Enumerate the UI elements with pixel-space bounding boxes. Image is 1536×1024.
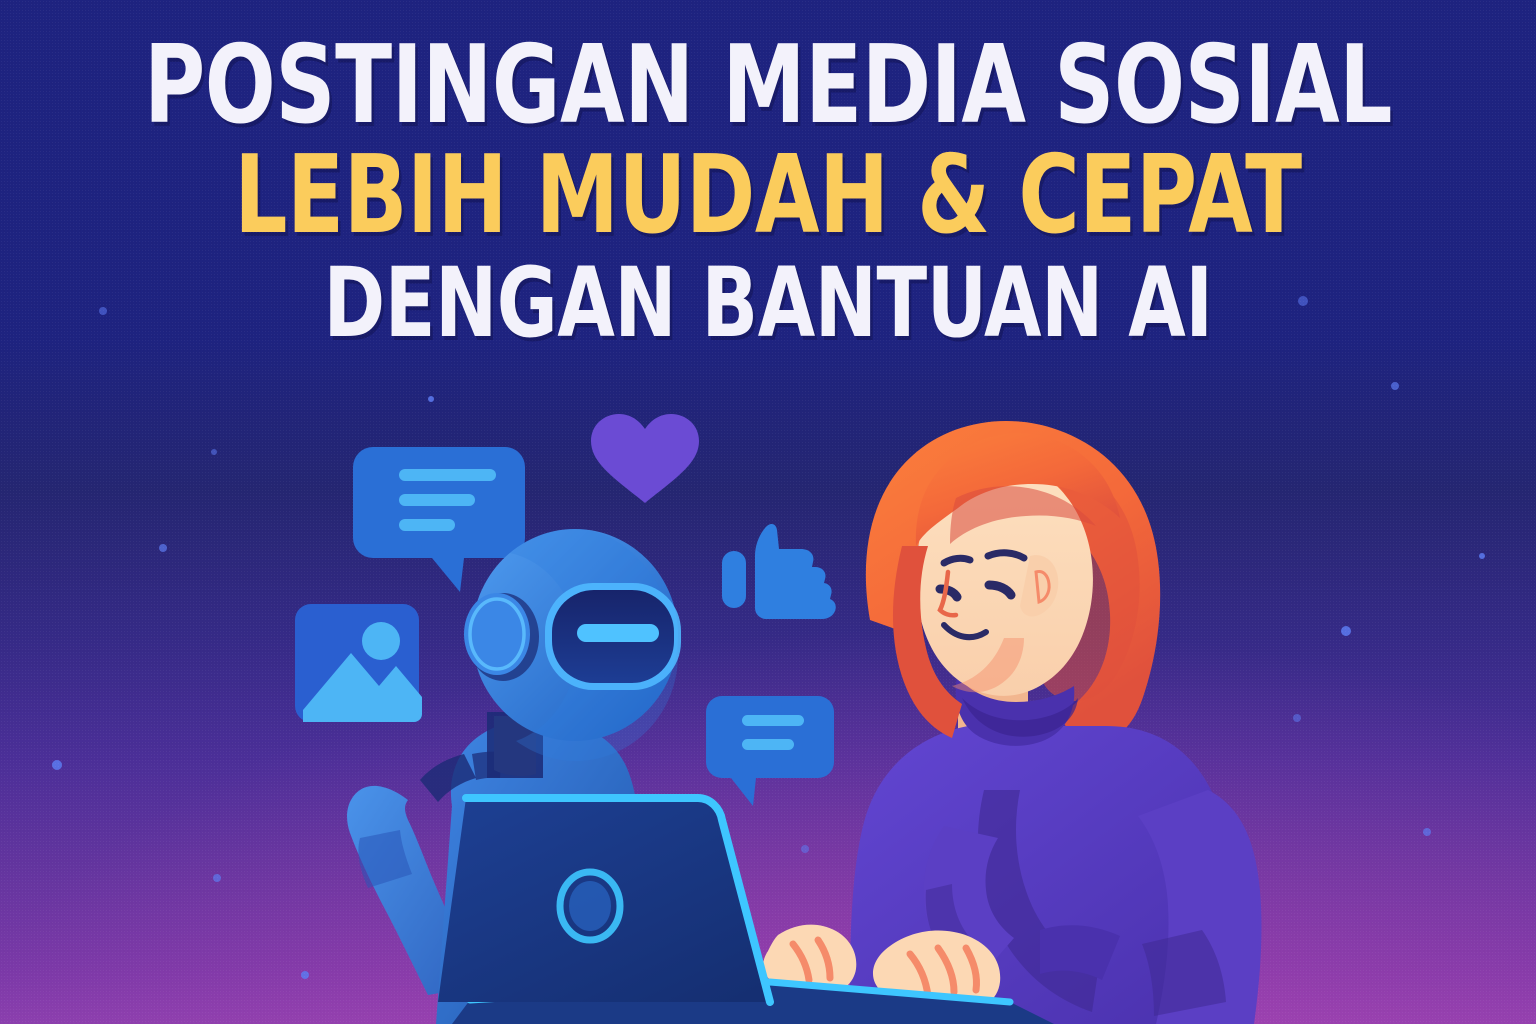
woman-typing xyxy=(763,421,1261,1024)
poster-canvas: POSTINGAN MEDIA SOSIAL LEBIH MUDAH & CEP… xyxy=(0,0,1536,1024)
illustration-stage xyxy=(0,0,1536,1024)
chat-bubble-small-icon xyxy=(706,696,834,806)
thumbs-up-icon xyxy=(722,524,836,619)
heart-icon xyxy=(591,414,699,503)
image-photo-icon xyxy=(295,604,422,722)
illustration-svg xyxy=(0,0,1536,1024)
